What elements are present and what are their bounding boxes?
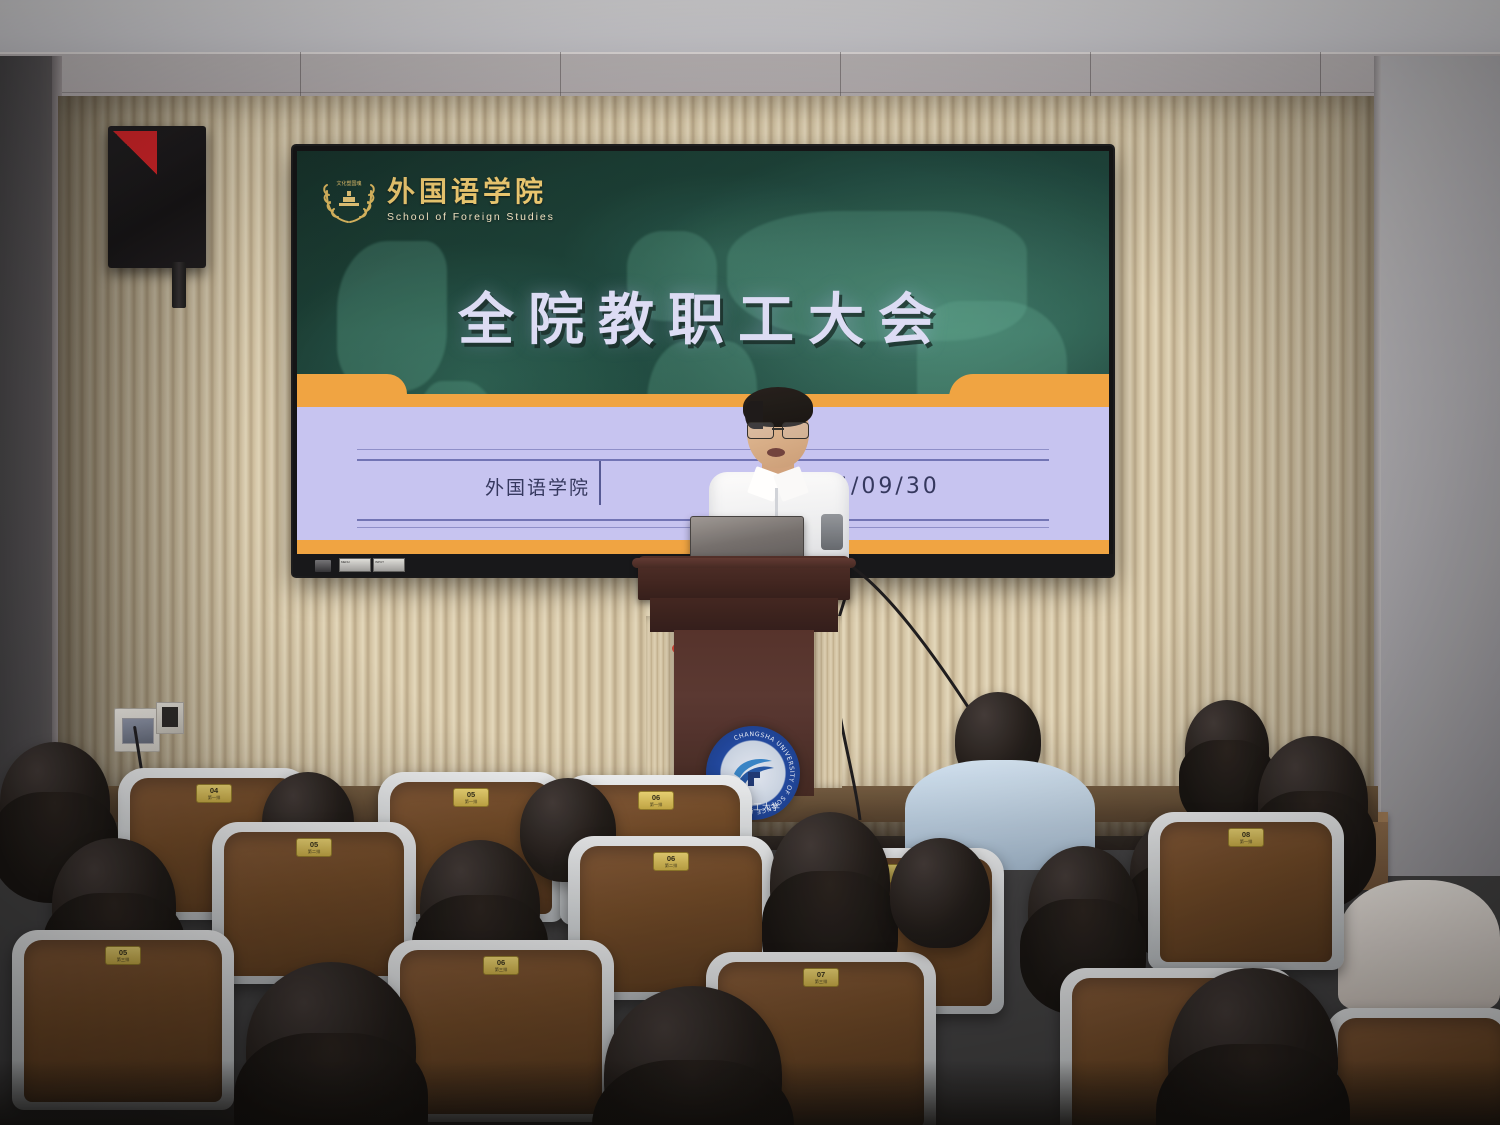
seat[interactable]: 05 第二排 [212,822,416,984]
svg-text:文化塑国魂: 文化塑国魂 [336,180,361,187]
slide-meta-divider [599,461,601,505]
left-dark-wall [0,56,60,816]
eyeglasses-icon [747,422,809,437]
seat[interactable]: 08 第一排 [1148,812,1344,970]
podium-top [638,556,850,600]
logo-en-text: School of Foreign Studies [387,212,555,223]
display-power-button[interactable] [315,560,331,572]
speaker-mount-bracket [172,262,186,308]
podium: CHANGSHA UNIVERSITY OF SCIENCE & TECHNOL… [638,556,850,796]
slide-meta-row: 外国语学院 25/09/30 [297,469,1109,503]
seat-plaque: 04 第一排 [196,784,232,803]
presenter-mouth [767,448,785,457]
slide-canvas: 文化塑国魂 外国语学院 School of Foreign Studies 全院… [297,151,1109,554]
audience-head [1185,700,1269,796]
display-label-menu[interactable]: MENU [339,558,371,572]
audience-head [770,812,890,952]
wall-shadow-right [1150,96,1380,836]
seat-plaque: 07 第三排 [803,968,839,987]
seat-plaque: 05 第一排 [453,788,489,807]
logo-cn-text: 外国语学院 [387,178,555,206]
seat-plaque: 08 第一排 [1228,828,1264,847]
podium-front-panel: CHANGSHA UNIVERSITY OF SCIENCE & TECHNOL… [674,630,814,796]
seat-plaque: 06 第一排 [638,791,674,810]
speaker-brand-label [115,135,149,151]
seat-plaque: 05 第三排 [105,946,141,965]
slide-title: 全院教职工大会 [297,275,1109,356]
seat-plaque: 05 第二排 [296,838,332,857]
slide-logo: 文化塑国魂 外国语学院 School of Foreign Studies [319,173,555,227]
display-label-input[interactable]: INPUT [373,558,405,572]
wreath-icon: 文化塑国魂 [319,173,379,227]
wall-socket[interactable] [156,702,184,734]
display-bezel: 文化塑国魂 外国语学院 School of Foreign Studies 全院… [297,151,1109,554]
seat-plaque: 06 第三排 [483,956,519,975]
presenter-arm-device [821,514,843,550]
foreground-shadow [0,1060,1500,1125]
podium-side-right [810,616,842,788]
footer-orange-top [297,394,1109,407]
right-gray-wall [1381,56,1500,876]
presenter-hair [743,387,813,427]
auditorium-photo: 文化塑国魂 外国语学院 School of Foreign Studies 全院… [0,0,1500,1125]
seat-plaque: 06 第二排 [653,852,689,871]
audience-head [890,838,990,948]
ceiling-soffit [0,0,1500,58]
wall-speaker-icon [108,126,206,268]
presentation-display[interactable]: 文化塑国魂 外国语学院 School of Foreign Studies 全院… [293,146,1113,576]
podium-apron [650,598,838,632]
audience-head [1028,846,1138,972]
slide-org-label: 外国语学院 [485,473,590,500]
audience-shoulders [1338,880,1500,1010]
